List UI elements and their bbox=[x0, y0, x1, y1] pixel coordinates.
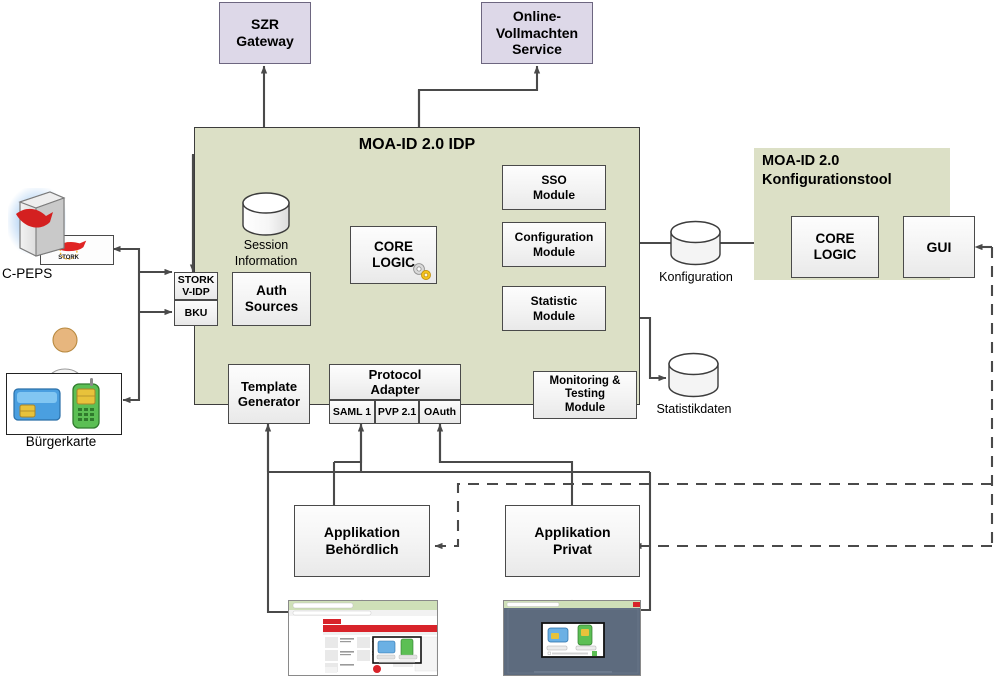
konfigurationstool-title-2: Konfigurationstool bbox=[762, 171, 952, 190]
session-information-caption: Session Information bbox=[218, 238, 314, 269]
tool-core-logic-label-2: LOGIC bbox=[814, 247, 857, 263]
vollmachten-label-2: Vollmachten bbox=[496, 25, 578, 42]
protocol-oauth-label: OAuth bbox=[424, 406, 456, 418]
vollmachten-label-1: Online- bbox=[513, 8, 561, 25]
session-caption-2: Information bbox=[218, 254, 314, 270]
bku-selection-screenshot bbox=[504, 601, 641, 676]
protocol-pvp21-label: PVP 2.1 bbox=[378, 406, 416, 418]
sso-module-label-2: Module bbox=[533, 188, 575, 202]
app-privat-label-1: Applikation bbox=[534, 524, 610, 541]
monitoring-module-label-1: Monitoring & bbox=[550, 375, 621, 389]
idp-core-logic-label-1: CORE bbox=[374, 239, 413, 255]
konfiguration-caption: Konfiguration bbox=[645, 270, 747, 284]
idp-core-logic-label-2: LOGIC bbox=[372, 255, 415, 271]
idp-panel-title: MOA-ID 2.0 IDP bbox=[194, 136, 640, 154]
online-vollmachten-service-box[interactable]: Online- Vollmachten Service bbox=[481, 2, 593, 64]
monitoring-testing-module-box[interactable]: Monitoring & Testing Module bbox=[533, 371, 637, 419]
database-cylinder-icon bbox=[240, 192, 292, 236]
szr-gateway-label-2: Gateway bbox=[236, 33, 294, 50]
database-cylinder-icon bbox=[668, 220, 723, 266]
sso-module-box[interactable]: SSO Module bbox=[502, 165, 606, 210]
browser-portal-screenshot bbox=[289, 601, 438, 676]
stork-vidp-label-1: STORK bbox=[178, 274, 215, 286]
session-information-cylinder bbox=[240, 192, 292, 236]
auth-sources-label-2: Sources bbox=[245, 299, 298, 315]
template-generator-box[interactable]: Template Generator bbox=[228, 364, 310, 424]
protocol-adapter-label-2: Adapter bbox=[370, 382, 419, 397]
monitoring-module-label-2: Testing bbox=[565, 388, 605, 402]
auth-channel-bku[interactable]: BKU bbox=[174, 300, 218, 326]
protocol-oauth-cell[interactable]: OAuth bbox=[419, 400, 461, 424]
server-stork-icon bbox=[6, 186, 72, 262]
database-cylinder-icon bbox=[666, 352, 721, 398]
tool-gui-label: GUI bbox=[927, 239, 952, 256]
protocol-adapter-box[interactable]: Protocol Adapter bbox=[329, 364, 461, 400]
template-generator-label-1: Template bbox=[241, 379, 297, 394]
szr-gateway-label-1: SZR bbox=[251, 16, 279, 33]
c-peps-caption: C-PEPS bbox=[2, 266, 94, 281]
statistikdaten-cylinder bbox=[666, 352, 721, 398]
statistic-module-box[interactable]: Statistic Module bbox=[502, 286, 606, 331]
protocol-pvp21-cell[interactable]: PVP 2.1 bbox=[375, 400, 419, 424]
vollmachten-label-3: Service bbox=[512, 41, 562, 58]
tool-core-logic-label-1: CORE bbox=[815, 231, 854, 247]
szr-gateway-box[interactable]: SZR Gateway bbox=[219, 2, 311, 64]
buergerkarte-device-plate bbox=[6, 373, 122, 435]
applikation-behoerdlich-box[interactable]: Applikation Behördlich bbox=[294, 505, 430, 577]
mobile-phone-icon bbox=[69, 378, 103, 430]
auth-sources-label-1: Auth bbox=[256, 283, 287, 299]
protocol-saml1-cell[interactable]: SAML 1 bbox=[329, 400, 375, 424]
c-peps-actor[interactable]: STORK bbox=[4, 186, 114, 266]
stork-vidp-label-2: V-IDP bbox=[182, 286, 209, 298]
bku-label: BKU bbox=[185, 307, 208, 319]
session-caption-1: Session bbox=[218, 238, 314, 254]
app-behoerdlich-label-1: Applikation bbox=[324, 524, 400, 541]
citizen-card-icon bbox=[13, 386, 61, 422]
gear-icon bbox=[411, 261, 433, 281]
protocol-adapter-label-1: Protocol bbox=[369, 367, 422, 382]
configuration-module-label-1: Configuration bbox=[515, 230, 594, 244]
konfigurationstool-title: MOA-ID 2.0 Konfigurationstool bbox=[762, 152, 952, 190]
auth-sources-box[interactable]: Auth Sources bbox=[232, 272, 311, 326]
architecture-diagram: SZR Gateway Online- Vollmachten Service … bbox=[0, 0, 1000, 678]
template-generator-label-2: Generator bbox=[238, 394, 300, 409]
protocol-saml1-label: SAML 1 bbox=[333, 406, 371, 418]
statistic-module-label-1: Statistic bbox=[531, 294, 578, 308]
statistikdaten-caption: Statistikdaten bbox=[640, 402, 748, 416]
app-behoerdlich-label-2: Behördlich bbox=[325, 541, 398, 558]
browser-window-thumbnail[interactable] bbox=[288, 600, 438, 676]
buergerkarte-caption: Bürgerkarte bbox=[2, 434, 120, 449]
konfigurationstool-core-logic-box[interactable]: CORE LOGIC bbox=[791, 216, 879, 278]
bku-selection-window-thumbnail[interactable] bbox=[503, 600, 641, 676]
applikation-privat-box[interactable]: Applikation Privat bbox=[505, 505, 640, 577]
app-privat-label-2: Privat bbox=[553, 541, 592, 558]
auth-channel-stork-vidp[interactable]: STORK V-IDP bbox=[174, 272, 218, 300]
idp-core-logic-box[interactable]: CORE LOGIC bbox=[350, 226, 437, 284]
monitoring-module-label-3: Module bbox=[565, 402, 605, 416]
configuration-module-box[interactable]: Configuration Module bbox=[502, 222, 606, 267]
konfigurationstool-gui-box[interactable]: GUI bbox=[903, 216, 975, 278]
konfigurationstool-title-1: MOA-ID 2.0 bbox=[762, 152, 952, 171]
konfiguration-cylinder bbox=[668, 220, 723, 266]
sso-module-label-1: SSO bbox=[541, 173, 566, 187]
configuration-module-label-2: Module bbox=[533, 245, 575, 259]
buergerkarte-actor[interactable] bbox=[4, 326, 122, 436]
statistic-module-label-2: Module bbox=[533, 309, 575, 323]
